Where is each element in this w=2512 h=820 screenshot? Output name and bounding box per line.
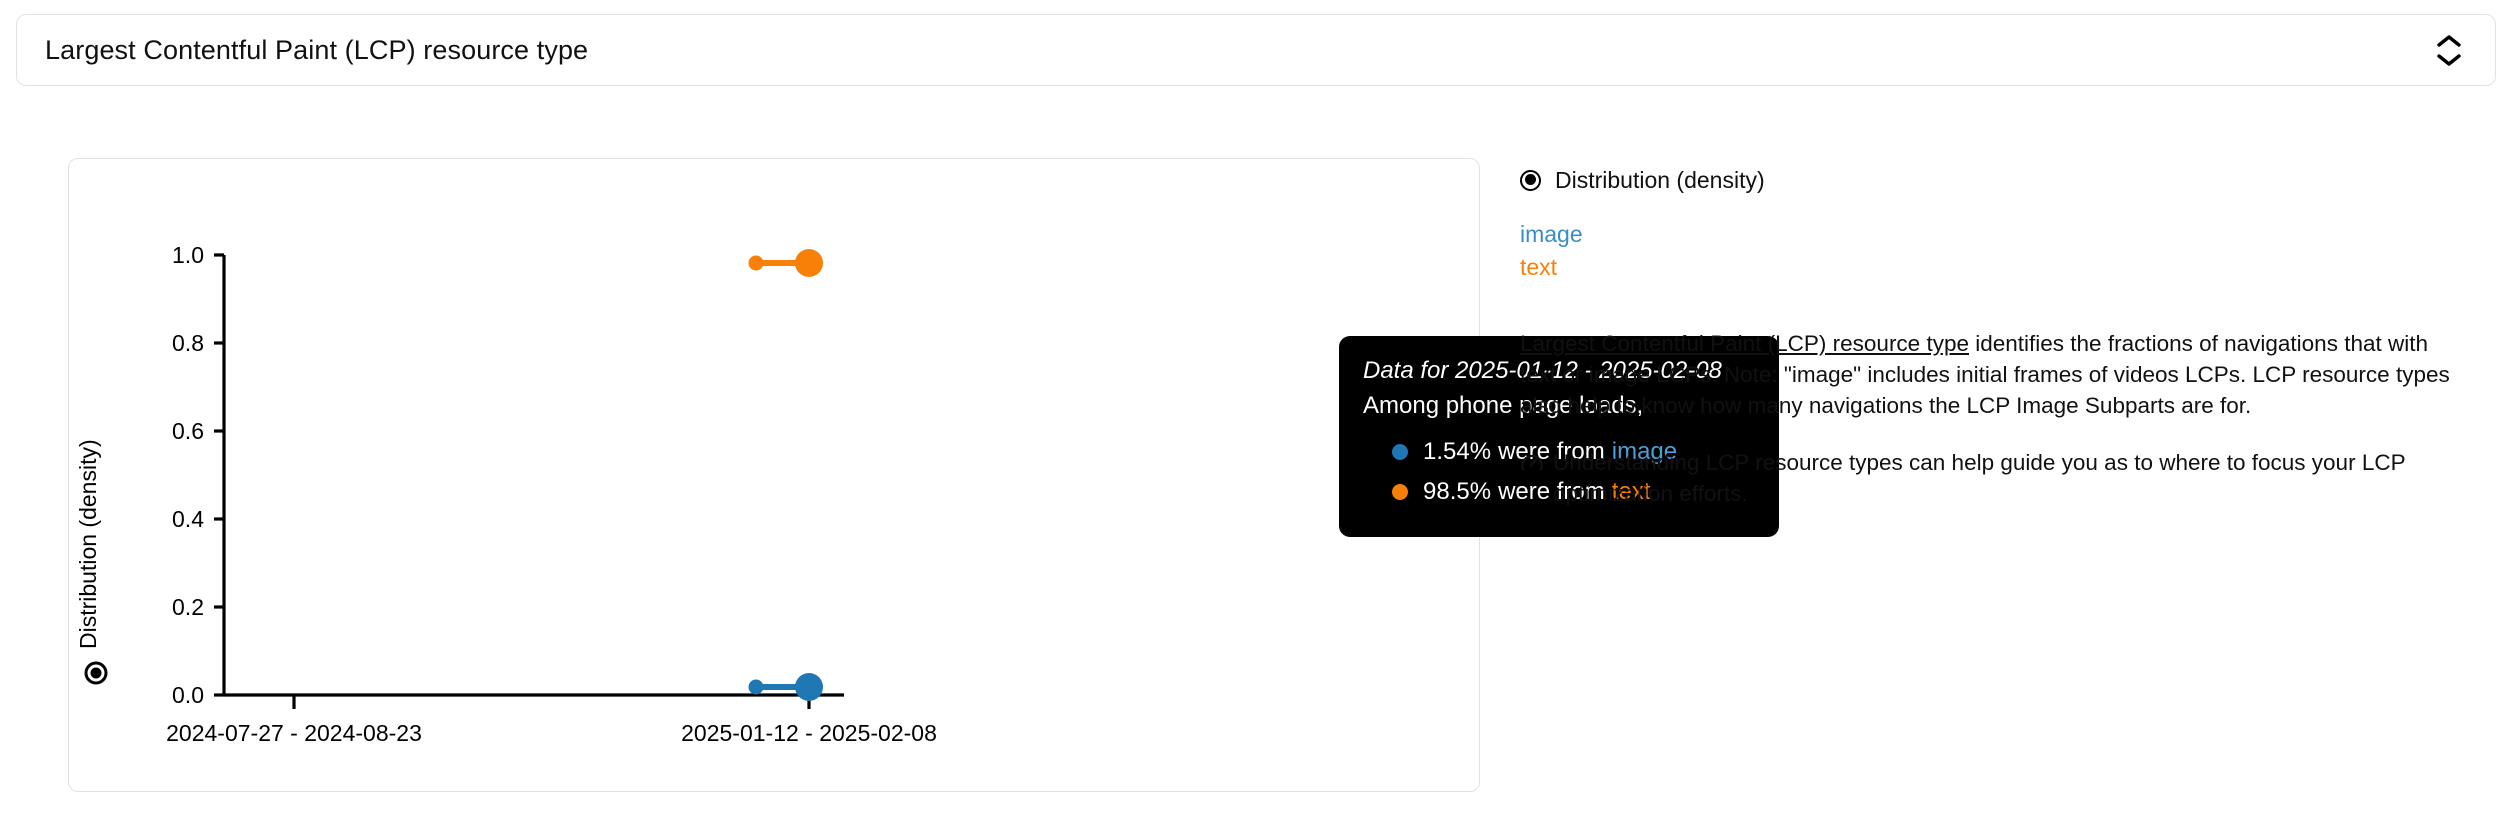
chart-panel: 1.0 0.8 0.6 0.4 0.2 0.0 Distribution (de… <box>68 158 1480 792</box>
radio-inner-dot-icon <box>91 668 102 679</box>
metric-description-link[interactable]: Largest Contentful Paint (LCP) resource … <box>1520 331 1969 356</box>
text-dot-icon <box>1390 482 1410 502</box>
series-image[interactable] <box>749 673 824 701</box>
widget-header[interactable]: Largest Contentful Paint (LCP) resource … <box>16 14 2496 86</box>
lcp-resource-type-chart[interactable]: 1.0 0.8 0.6 0.4 0.2 0.0 Distribution (de… <box>69 159 1479 791</box>
metric-tip: Understanding LCP resource types can hel… <box>1520 447 2458 509</box>
x-tick-label: 2025-01-12 - 2025-02-08 <box>681 720 937 746</box>
metric-radio-distribution[interactable]: Distribution (density) <box>1520 165 1765 195</box>
x-axis-tick-labels: 2024-07-27 - 2024-08-23 2025-01-12 - 202… <box>166 720 937 746</box>
metric-tip-text: Understanding LCP resource types can hel… <box>1553 447 2458 509</box>
image-dot-icon <box>1390 442 1410 462</box>
page-title: Largest Contentful Paint (LCP) resource … <box>45 37 588 64</box>
y-tick-label: 0.6 <box>172 418 204 444</box>
side-panel: Distribution (density) image text Larges… <box>1520 158 2480 798</box>
legend-item-image[interactable]: image <box>1520 219 1583 249</box>
x-tick-label: 2024-07-27 - 2024-08-23 <box>166 720 422 746</box>
y-tick-label: 1.0 <box>172 242 204 268</box>
y-tick-label: 0.0 <box>172 682 204 708</box>
legend-item-text[interactable]: text <box>1520 252 1557 282</box>
series-text-point-large[interactable] <box>795 249 823 277</box>
y-axis-tick-labels: 1.0 0.8 0.6 0.4 0.2 0.0 <box>172 242 204 708</box>
tooltip-value: 98.5% <box>1423 475 1491 509</box>
radio-selected-icon[interactable] <box>1520 170 1541 191</box>
y-axis-title-group[interactable]: Distribution (density) <box>75 439 106 683</box>
series-text-point-small[interactable] <box>749 256 764 271</box>
lcp-resource-type-widget: Largest Contentful Paint (LCP) resource … <box>0 0 2512 820</box>
y-tick-label: 0.4 <box>172 506 204 532</box>
tooltip-value: 1.54% <box>1423 435 1491 469</box>
gauge-icon <box>1520 452 1544 476</box>
series-text[interactable] <box>749 249 824 277</box>
chevron-down-icon <box>2436 53 2462 67</box>
x-axis-ticks <box>294 695 809 709</box>
collapse-toggle-button[interactable] <box>2429 26 2469 74</box>
series-image-point-large[interactable] <box>795 673 823 701</box>
y-tick-label: 0.8 <box>172 330 204 356</box>
y-tick-label: 0.2 <box>172 594 204 620</box>
chart-legend: image text <box>1520 219 2480 282</box>
y-axis-title: Distribution (density) <box>75 439 101 649</box>
chevron-up-icon <box>2436 34 2462 48</box>
metric-description: Largest Contentful Paint (LCP) resource … <box>1520 328 2458 421</box>
metric-radio-label: Distribution (density) <box>1555 169 1765 192</box>
series-image-point-small[interactable] <box>749 680 764 695</box>
